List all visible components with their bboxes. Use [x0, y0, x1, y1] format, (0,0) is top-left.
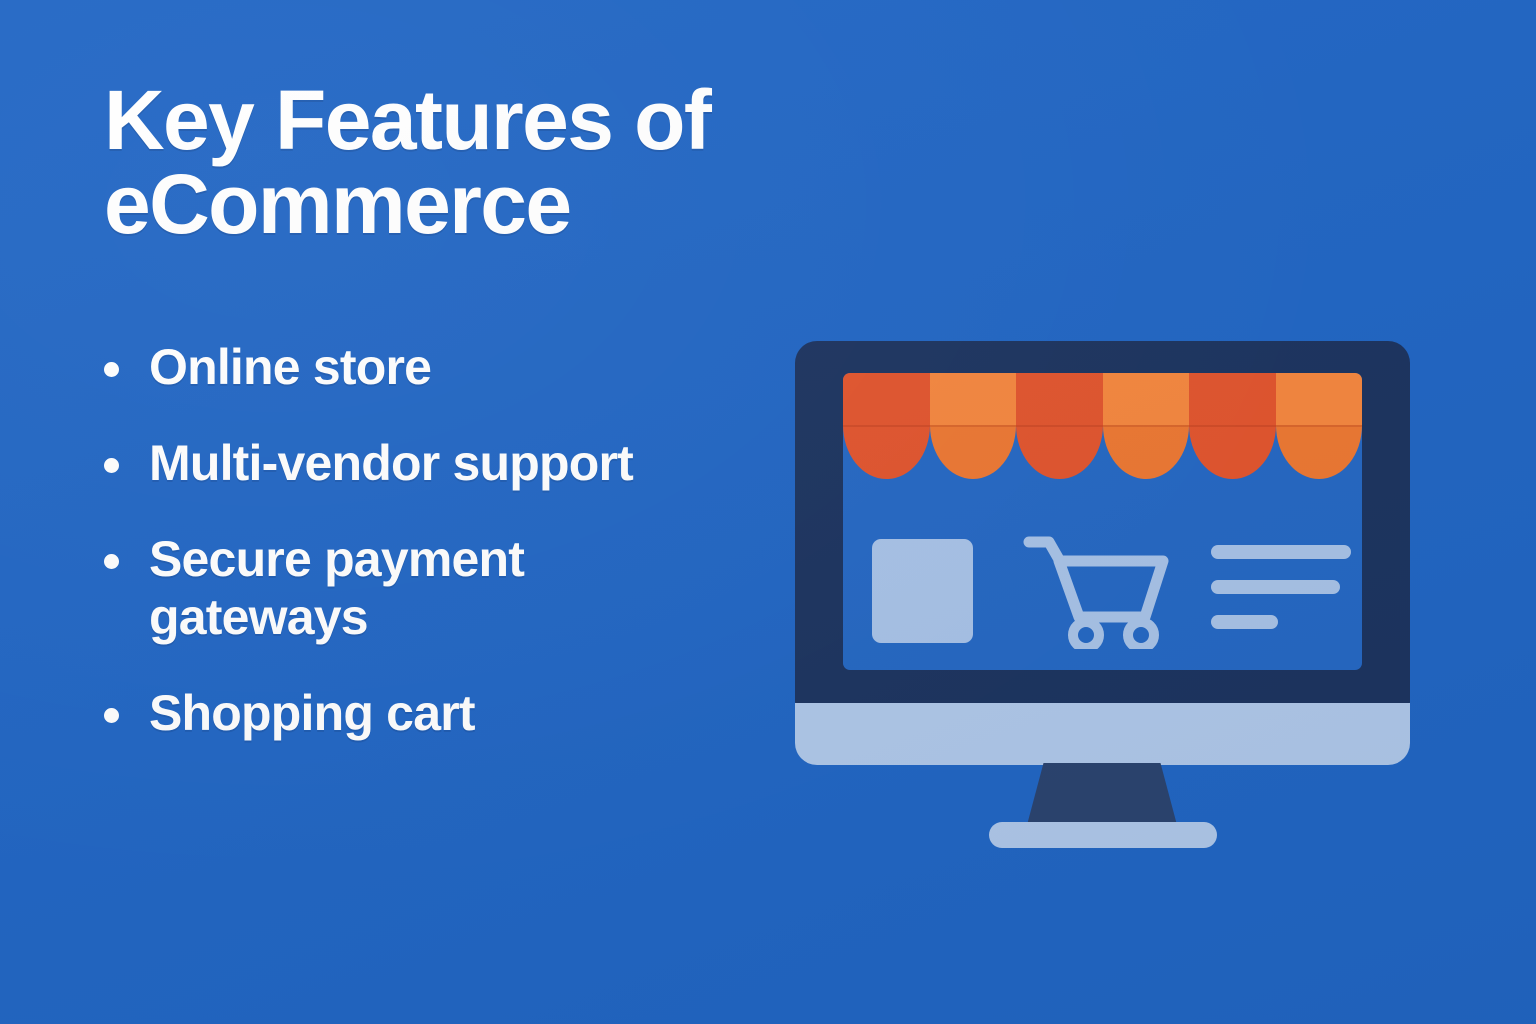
product-placeholder-tile [872, 539, 973, 643]
awning-band-segment [1016, 373, 1103, 427]
page-title: Key Features of eCommerce [104, 78, 864, 246]
awning-scallop [930, 425, 1017, 479]
feature-label-secure-payment-gateways: Secure payment gateways [149, 530, 524, 646]
desktop-monitor-illustration [795, 341, 1410, 773]
awning-band-segment [1276, 373, 1363, 427]
bullet-dot-icon [104, 708, 119, 723]
content-text-lines [1211, 545, 1351, 629]
bullet-dot-icon [104, 458, 119, 473]
awning-seam-line [843, 425, 1362, 427]
storefront-awning [843, 373, 1362, 481]
slide-canvas: Key Features of eCommerce Online store M… [0, 0, 1536, 1024]
text-line [1211, 545, 1351, 559]
awning-scallop-row [843, 425, 1362, 481]
shopping-cart-icon [1023, 533, 1173, 649]
feature-label-shopping-cart: Shopping cart [149, 684, 475, 742]
awning-scallop [1276, 425, 1363, 479]
list-item: Shopping cart [104, 684, 864, 742]
awning-band-segment [930, 373, 1017, 427]
monitor-stand-neck [1027, 763, 1177, 825]
awning-scallop [1103, 425, 1190, 479]
list-item: Online store [104, 338, 864, 396]
list-item: Multi-vendor support [104, 434, 864, 492]
awning-band-segment [1103, 373, 1190, 427]
monitor-screen [843, 373, 1362, 670]
feature-label-online-store: Online store [149, 338, 431, 396]
bullet-dot-icon [104, 554, 119, 569]
feature-label-multi-vendor-support: Multi-vendor support [149, 434, 633, 492]
awning-band-segment [843, 373, 930, 427]
list-item: Secure payment gateways [104, 530, 864, 646]
awning-scallop [1016, 425, 1103, 479]
monitor-chin [795, 703, 1410, 765]
monitor-stand-base [989, 822, 1217, 848]
feature-list: Online store Multi-vendor support Secure… [104, 338, 864, 742]
awning-scallop [843, 425, 930, 479]
text-content-column: Key Features of eCommerce Online store M… [104, 78, 864, 742]
text-line [1211, 580, 1340, 594]
text-line [1211, 615, 1278, 629]
bullet-dot-icon [104, 362, 119, 377]
awning-band-segment [1189, 373, 1276, 427]
awning-scallop [1189, 425, 1276, 479]
awning-band [843, 373, 1362, 427]
